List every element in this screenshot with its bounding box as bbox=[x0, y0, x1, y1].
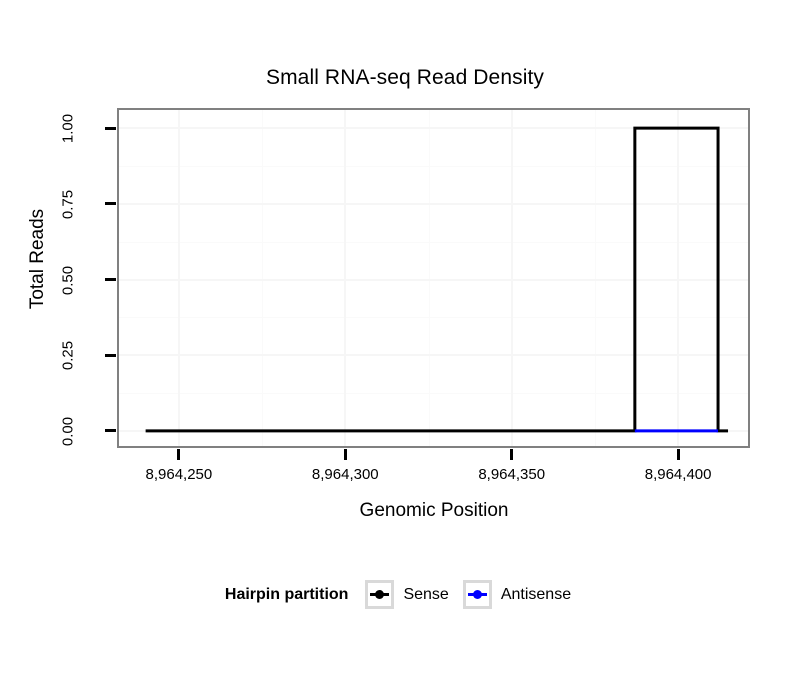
y-axis-tick-mark bbox=[105, 429, 116, 432]
legend-entry-sense[interactable]: Sense bbox=[365, 580, 448, 609]
plot-inner bbox=[119, 110, 748, 446]
legend-label-sense: Sense bbox=[403, 586, 448, 604]
x-axis-tick-label: 8,964,400 bbox=[608, 466, 748, 483]
y-axis-tick-label: 0.75 bbox=[60, 174, 77, 234]
x-axis-tick-mark bbox=[677, 449, 680, 460]
x-axis-tick-mark bbox=[510, 449, 513, 460]
legend-key-sense bbox=[365, 580, 394, 609]
x-axis-tick-mark bbox=[344, 449, 347, 460]
y-axis-tick-label: 0.00 bbox=[60, 401, 77, 461]
x-axis-title: Genomic Position bbox=[117, 500, 751, 522]
series-layer bbox=[119, 110, 748, 446]
y-axis-tick-label: 0.50 bbox=[60, 250, 77, 310]
y-axis-tick-mark bbox=[105, 278, 116, 281]
y-axis-tick-mark bbox=[105, 354, 116, 357]
x-axis-tick-mark bbox=[177, 449, 180, 460]
plot-panel bbox=[117, 108, 750, 448]
series-line-sense bbox=[146, 128, 728, 431]
legend-key-dot-antisense bbox=[473, 590, 482, 599]
y-axis-tick-label-wrap: 0.00 bbox=[38, 423, 98, 439]
x-axis-tick-label: 8,964,350 bbox=[442, 466, 582, 483]
y-axis-tick-label-wrap: 1.00 bbox=[38, 120, 98, 136]
legend-key-antisense bbox=[463, 580, 492, 609]
x-axis-tick-label: 8,964,300 bbox=[275, 466, 415, 483]
legend-title: Hairpin partition bbox=[225, 586, 349, 604]
chart-title: Small RNA-seq Read Density bbox=[0, 66, 810, 90]
y-axis-tick-mark bbox=[105, 202, 116, 205]
y-axis-tick-mark bbox=[105, 127, 116, 130]
y-axis-tick-label-wrap: 0.50 bbox=[38, 272, 98, 288]
y-axis-tick-label: 1.00 bbox=[60, 99, 77, 159]
legend-label-antisense: Antisense bbox=[501, 586, 571, 604]
y-axis-tick-label-wrap: 0.25 bbox=[38, 347, 98, 363]
legend-key-dot-sense bbox=[375, 590, 384, 599]
y-axis-tick-label-wrap: 0.75 bbox=[38, 196, 98, 212]
legend-entry-antisense[interactable]: Antisense bbox=[463, 580, 571, 609]
chart-legend: Hairpin partition Sense Antisense bbox=[0, 580, 810, 609]
chart-figure: Small RNA-seq Read Density Total Reads G… bbox=[0, 0, 810, 690]
y-axis-tick-label: 0.25 bbox=[60, 326, 77, 386]
x-axis-tick-label: 8,964,250 bbox=[109, 466, 249, 483]
